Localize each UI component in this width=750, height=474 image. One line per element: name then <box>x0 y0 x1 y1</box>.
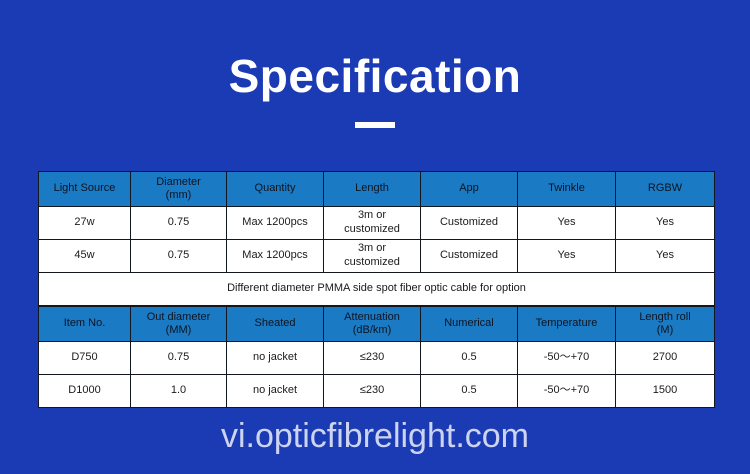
column-header-diameter-unit: (mm) <box>133 189 224 202</box>
column-header-numerical-label: Numerical <box>444 317 494 329</box>
cell-temperature: -50～+70 <box>518 375 616 408</box>
cell-twinkle: Yes <box>518 240 616 273</box>
column-header-quantity-label: Quantity <box>255 182 296 194</box>
column-header-sheated-label: Sheated <box>255 317 296 329</box>
column-header-twinkle: Twinkle <box>518 172 616 207</box>
cell-numerical: 0.5 <box>421 375 518 408</box>
column-header-numerical: Numerical <box>421 307 518 342</box>
column-header-diameter: Diameter (mm) <box>131 172 227 207</box>
column-header-out-diameter-label: Out diameter <box>147 311 211 323</box>
cell-length-roll: 2700 <box>616 342 715 375</box>
cell-length-line1: 3m or <box>358 242 386 254</box>
cell-diameter: 0.75 <box>131 207 227 240</box>
table-note-row: Different diameter PMMA side spot fiber … <box>39 273 715 306</box>
column-header-item-no: Item No. <box>39 307 131 342</box>
cell-length-line1: 3m or <box>358 209 386 221</box>
cell-length-line2: customized <box>344 223 400 235</box>
column-header-length-label: Length <box>355 182 389 194</box>
column-header-out-diameter-unit: (MM) <box>133 324 224 337</box>
column-header-length-roll-label: Length roll <box>639 311 690 323</box>
column-header-item-no-label: Item No. <box>64 317 106 329</box>
cell-quantity: Max 1200pcs <box>227 240 324 273</box>
cell-out-diameter: 0.75 <box>131 342 227 375</box>
column-header-attenuation: Attenuation (dB/km) <box>324 307 421 342</box>
cell-numerical: 0.5 <box>421 342 518 375</box>
site-watermark: vi.opticfibrelight.com <box>0 418 750 455</box>
cell-rgbw: Yes <box>616 240 715 273</box>
column-header-rgbw-label: RGBW <box>648 182 682 194</box>
title-block: Specification <box>0 52 750 128</box>
cell-twinkle: Yes <box>518 207 616 240</box>
column-header-attenuation-unit: (dB/km) <box>326 324 418 337</box>
light-source-spec-table: Light Source Diameter (mm) Quantity Leng… <box>38 171 715 306</box>
cell-light-source: 27w <box>39 207 131 240</box>
column-header-quantity: Quantity <box>227 172 324 207</box>
column-header-out-diameter: Out diameter (MM) <box>131 307 227 342</box>
cell-attenuation: ≤230 <box>324 342 421 375</box>
cell-out-diameter: 1.0 <box>131 375 227 408</box>
column-header-sheated: Sheated <box>227 307 324 342</box>
specification-tables: Light Source Diameter (mm) Quantity Leng… <box>38 171 714 408</box>
table-row: 45w 0.75 Max 1200pcs 3m or customized Cu… <box>39 240 715 273</box>
column-header-app: App <box>421 172 518 207</box>
title-divider-dash <box>355 122 395 128</box>
cell-length-line2: customized <box>344 256 400 268</box>
column-header-length-roll: Length roll (M) <box>616 307 715 342</box>
column-header-temperature: Temperature <box>518 307 616 342</box>
page-title: Specification <box>0 52 750 100</box>
cell-app: Customized <box>421 240 518 273</box>
column-header-attenuation-label: Attenuation <box>344 311 400 323</box>
cell-length-roll: 1500 <box>616 375 715 408</box>
cell-item-no: D750 <box>39 342 131 375</box>
cell-light-source: 45w <box>39 240 131 273</box>
table-header-row: Item No. Out diameter (MM) Sheated Atten… <box>39 307 715 342</box>
column-header-length-roll-unit: (M) <box>618 324 712 337</box>
column-header-length: Length <box>324 172 421 207</box>
cell-app: Customized <box>421 207 518 240</box>
cell-rgbw: Yes <box>616 207 715 240</box>
column-header-app-label: App <box>459 182 479 194</box>
column-header-diameter-label: Diameter <box>156 176 201 188</box>
cell-attenuation: ≤230 <box>324 375 421 408</box>
column-header-light-source: Light Source <box>39 172 131 207</box>
cell-temperature: -50～+70 <box>518 342 616 375</box>
cell-quantity: Max 1200pcs <box>227 207 324 240</box>
column-header-light-source-label: Light Source <box>54 182 116 194</box>
cell-item-no: D1000 <box>39 375 131 408</box>
cell-diameter: 0.75 <box>131 240 227 273</box>
table-row: D750 0.75 no jacket ≤230 0.5 -50～+70 270… <box>39 342 715 375</box>
column-header-temperature-label: Temperature <box>536 317 598 329</box>
table-row: 27w 0.75 Max 1200pcs 3m or customized Cu… <box>39 207 715 240</box>
cell-sheated: no jacket <box>227 342 324 375</box>
cable-spec-table: Item No. Out diameter (MM) Sheated Atten… <box>38 306 715 408</box>
column-header-twinkle-label: Twinkle <box>548 182 585 194</box>
column-header-rgbw: RGBW <box>616 172 715 207</box>
table-row: D1000 1.0 no jacket ≤230 0.5 -50～+70 150… <box>39 375 715 408</box>
cell-length: 3m or customized <box>324 240 421 273</box>
table-header-row: Light Source Diameter (mm) Quantity Leng… <box>39 172 715 207</box>
cell-length: 3m or customized <box>324 207 421 240</box>
cell-option-note: Different diameter PMMA side spot fiber … <box>39 273 715 306</box>
cell-sheated: no jacket <box>227 375 324 408</box>
